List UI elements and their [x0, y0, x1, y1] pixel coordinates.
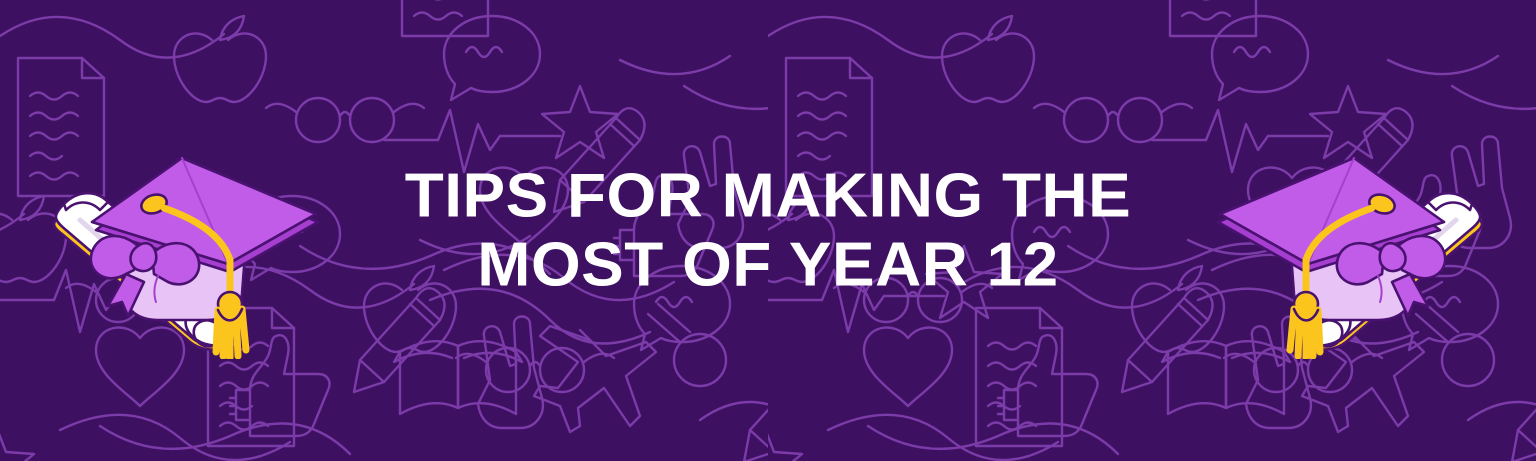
graduation-cap-illustration-right	[1202, 104, 1502, 359]
promo-banner: TIPS FOR MAKING THE MOST OF YEAR 12	[0, 0, 1536, 461]
graduation-cap-illustration-left	[34, 104, 334, 359]
banner-title-line-1: TIPS FOR MAKING THE	[346, 161, 1191, 230]
banner-title-line-2: MOST OF YEAR 12	[346, 231, 1191, 300]
banner-title: TIPS FOR MAKING THE MOST OF YEAR 12	[358, 161, 1178, 300]
